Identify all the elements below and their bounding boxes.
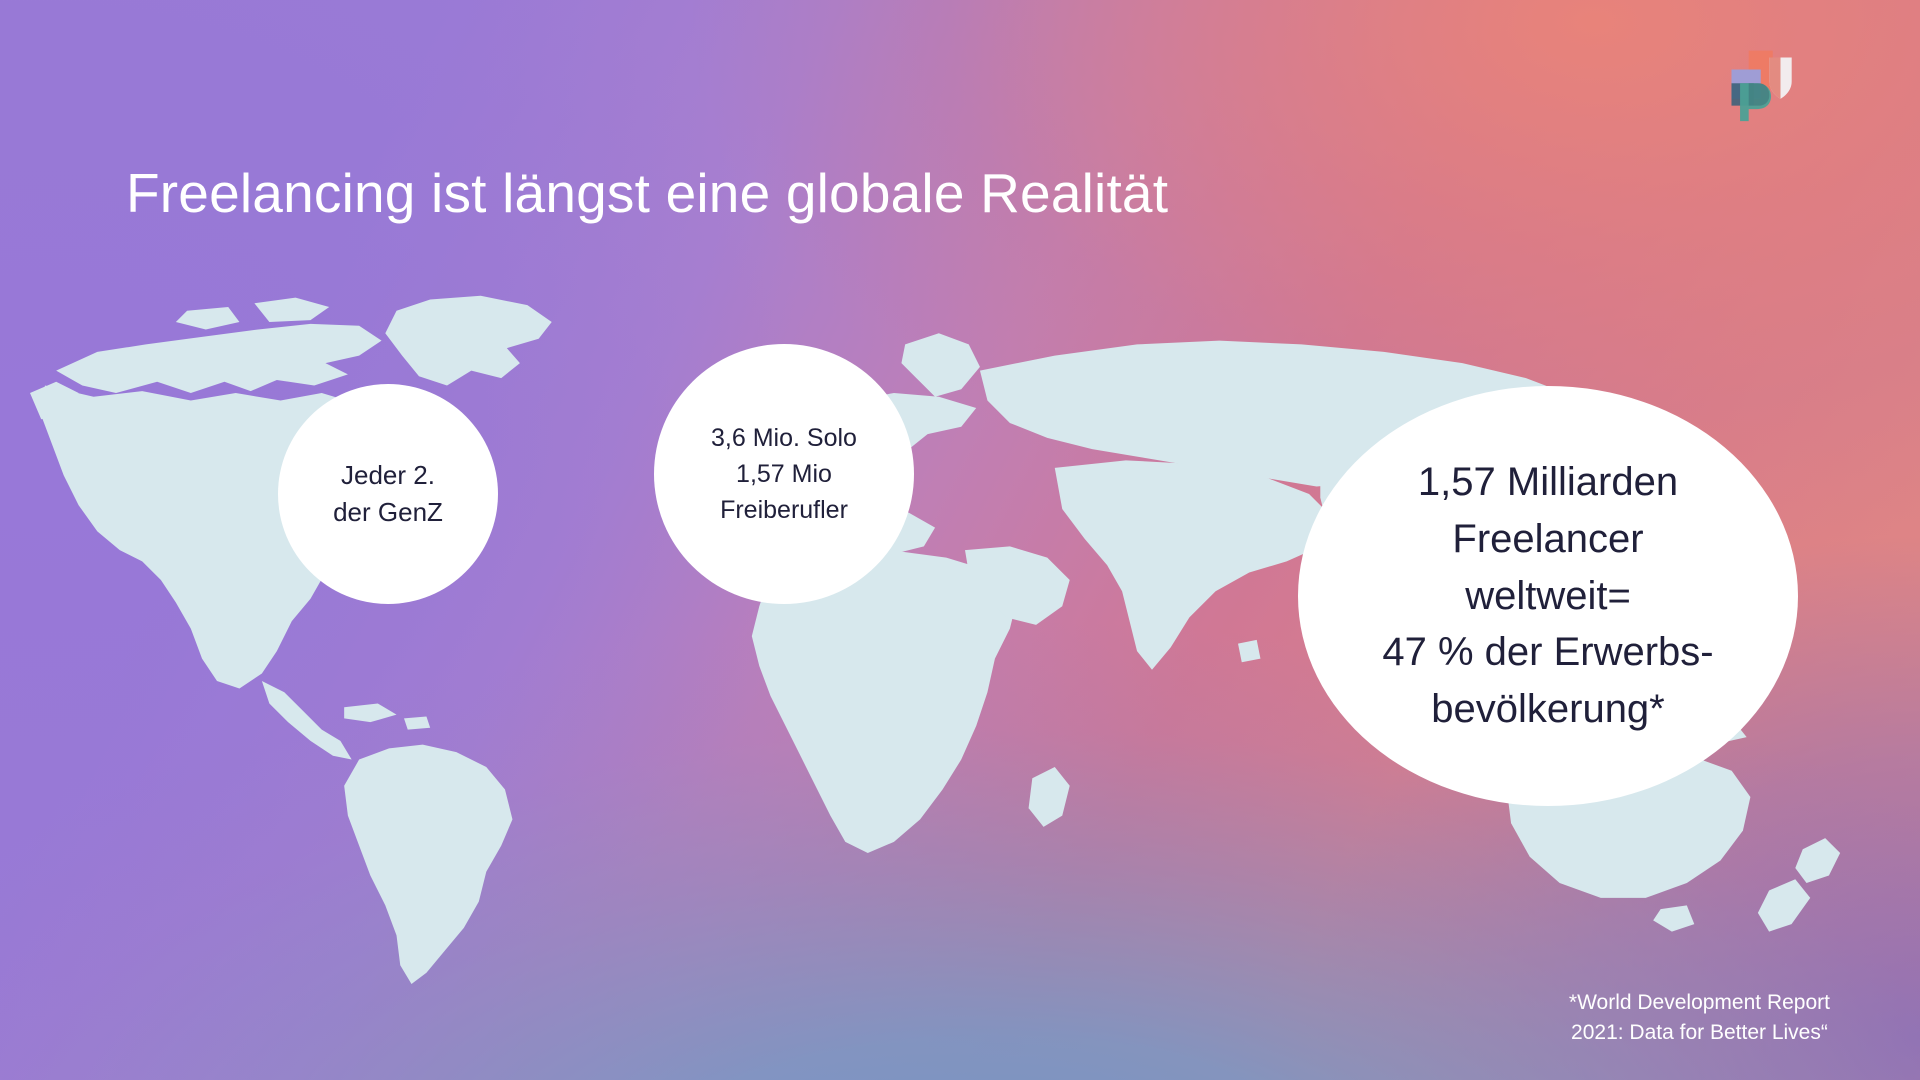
callout-line: Jeder 2. (287, 457, 489, 494)
callout-line: 1,57 Mio (664, 456, 903, 492)
page-title: Freelancing ist längst eine globale Real… (126, 163, 1168, 225)
callout-line: der GenZ (287, 494, 489, 531)
slide-canvas: Freelancing ist längst eine globale Real… (0, 0, 1920, 1080)
callout-line: 1,57 Milliarden (1318, 454, 1778, 511)
callout-bubble-genz-text: Jeder 2. der GenZ (287, 457, 489, 531)
callout-bubble-genz: Jeder 2. der GenZ (278, 384, 498, 604)
callout-line: Freiberufler (664, 492, 903, 528)
brand-logo (1716, 42, 1802, 128)
callout-line: 47 % der Erwerbs- (1318, 624, 1778, 681)
callout-line: Freelancer (1318, 511, 1778, 568)
callout-bubble-solo: 3,6 Mio. Solo 1,57 Mio Freiberufler (654, 344, 914, 604)
callout-bubble-global-text: 1,57 Milliarden Freelancer weltweit= 47 … (1318, 454, 1778, 738)
callout-bubble-solo-text: 3,6 Mio. Solo 1,57 Mio Freiberufler (664, 420, 903, 529)
source-footnote-line-1: *World Development Report (1569, 988, 1830, 1018)
callout-line: bevölkerung* (1318, 681, 1778, 738)
source-footnote: *World Development Report 2021: Data for… (1569, 988, 1830, 1048)
callout-line: weltweit= (1318, 568, 1778, 625)
callout-line: 3,6 Mio. Solo (664, 420, 903, 456)
source-footnote-line-2: 2021: Data for Better Lives“ (1569, 1018, 1830, 1048)
callout-bubble-global: 1,57 Milliarden Freelancer weltweit= 47 … (1298, 386, 1798, 806)
